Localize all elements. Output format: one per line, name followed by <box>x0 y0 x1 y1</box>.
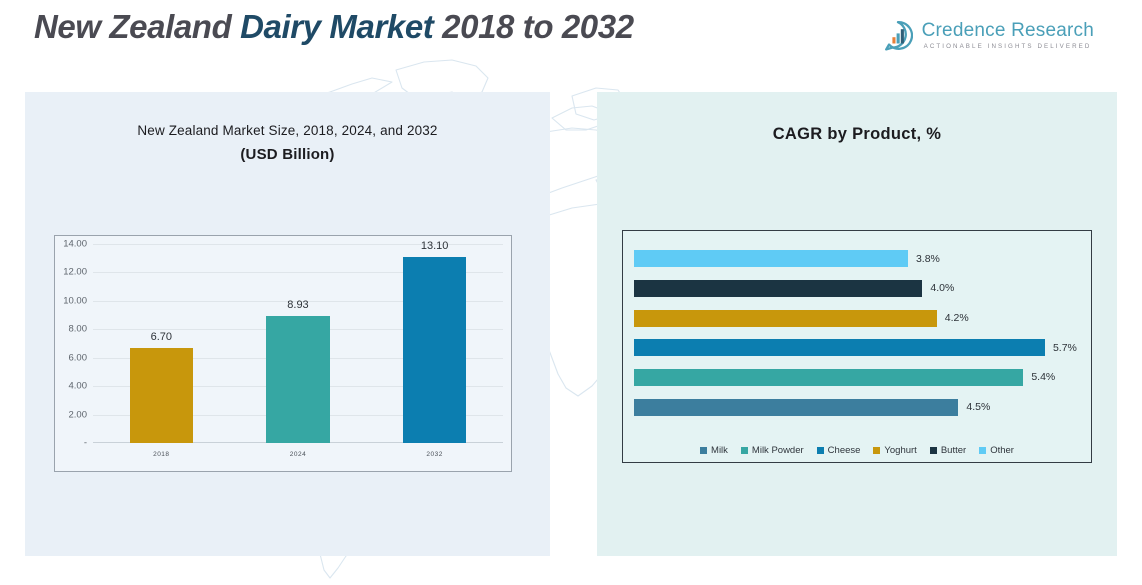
bar-value-label: 4.2% <box>945 312 969 324</box>
market-size-plot-area: -2.004.006.008.0010.0012.0014.006.702018… <box>93 244 503 443</box>
y-axis-tick-label: 14.00 <box>63 239 87 250</box>
bar-value-label: 8.93 <box>287 299 308 311</box>
bar-2018[interactable] <box>130 348 194 443</box>
legend-label: Yoghurt <box>884 445 916 456</box>
bar-value-label: 3.8% <box>916 253 940 265</box>
bar-row: 4.2% <box>634 310 1081 327</box>
bar-value-label: 13.10 <box>421 240 449 252</box>
y-axis-tick-label: 10.00 <box>63 295 87 306</box>
bar-value-label: 4.0% <box>930 282 954 294</box>
title-accent: Dairy Market <box>240 8 433 45</box>
legend-swatch-icon <box>817 447 824 454</box>
bar-2032[interactable] <box>403 257 467 443</box>
x-axis-tick-label: 2024 <box>290 451 306 458</box>
bar-cheese[interactable] <box>634 339 1045 356</box>
legend-item-milk[interactable]: Milk <box>700 445 728 456</box>
x-axis-tick-label: 2018 <box>153 451 169 458</box>
page-title: New Zealand Dairy Market 2018 to 2032 <box>34 8 634 46</box>
legend-item-butter[interactable]: Butter <box>930 445 966 456</box>
bar-column: 6.702018 <box>130 348 194 443</box>
bar-value-label: 4.5% <box>966 401 990 413</box>
legend-label: Cheese <box>828 445 861 456</box>
cagr-bar-chart: 3.8%4.0%4.2%5.7%5.4%4.5% MilkMilk Powder… <box>622 230 1092 463</box>
cagr-plot-area: 3.8%4.0%4.2%5.7%5.4%4.5% <box>634 244 1081 422</box>
bar-row: 3.8% <box>634 250 1081 267</box>
logo-company-name: Credence Research <box>922 21 1094 40</box>
x-axis-tick-label: 2032 <box>426 451 442 458</box>
y-axis-tick-label: 12.00 <box>63 267 87 278</box>
legend-item-other[interactable]: Other <box>979 445 1014 456</box>
bar-2024[interactable] <box>266 316 330 443</box>
legend-label: Butter <box>941 445 966 456</box>
cagr-title: CAGR by Product, % <box>597 125 1117 144</box>
bar-yoghurt[interactable] <box>634 310 937 327</box>
title-part-1: New Zealand <box>34 8 240 45</box>
legend-swatch-icon <box>873 447 880 454</box>
bar-value-label: 5.4% <box>1031 371 1055 383</box>
cagr-panel: CAGR by Product, % 3.8%4.0%4.2%5.7%5.4%4… <box>597 92 1117 556</box>
legend-label: Milk <box>711 445 728 456</box>
legend-swatch-icon <box>930 447 937 454</box>
market-size-panel: New Zealand Market Size, 2018, 2024, and… <box>25 92 550 556</box>
y-axis-tick-label: 8.00 <box>69 324 88 335</box>
legend-item-yoghurt[interactable]: Yoghurt <box>873 445 916 456</box>
legend-swatch-icon <box>979 447 986 454</box>
bar-value-label: 6.70 <box>151 331 172 343</box>
logo-text-block: Credence Research Actionable Insights De… <box>922 21 1094 50</box>
bar-row: 5.4% <box>634 369 1081 386</box>
legend-swatch-icon <box>700 447 707 454</box>
market-size-bar-chart: -2.004.006.008.0010.0012.0014.006.702018… <box>54 235 512 472</box>
bar-value-label: 5.7% <box>1053 342 1077 354</box>
y-axis-tick-label: 4.00 <box>69 381 88 392</box>
bar-other[interactable] <box>634 250 908 267</box>
market-size-title-line2: (USD Billion) <box>25 146 550 163</box>
title-part-2: 2018 to 2032 <box>433 8 633 45</box>
legend-swatch-icon <box>741 447 748 454</box>
logo-bar-chart-icon <box>883 21 913 51</box>
cagr-legend: MilkMilk PowderCheeseYoghurtButterOther <box>623 445 1091 456</box>
bar-butter[interactable] <box>634 280 922 297</box>
bar-milk-powder[interactable] <box>634 369 1023 386</box>
legend-item-cheese[interactable]: Cheese <box>817 445 861 456</box>
logo-tagline: Actionable Insights Delivered <box>924 44 1094 50</box>
legend-label: Milk Powder <box>752 445 804 456</box>
bar-column: 13.102032 <box>403 257 467 443</box>
bar-row: 4.5% <box>634 399 1081 416</box>
bar-column: 8.932024 <box>266 316 330 443</box>
credence-research-logo[interactable]: Credence Research Actionable Insights De… <box>883 16 1094 56</box>
market-size-title-line1: New Zealand Market Size, 2018, 2024, and… <box>25 123 550 138</box>
y-axis-tick-label: 2.00 <box>69 409 88 420</box>
bar-milk[interactable] <box>634 399 958 416</box>
y-axis-tick-label: 6.00 <box>69 352 88 363</box>
page-header: New Zealand Dairy Market 2018 to 2032 Cr… <box>0 0 1142 64</box>
legend-item-milk-powder[interactable]: Milk Powder <box>741 445 804 456</box>
bar-row: 4.0% <box>634 280 1081 297</box>
legend-label: Other <box>990 445 1014 456</box>
y-axis-tick-label: - <box>84 438 87 449</box>
bar-row: 5.7% <box>634 339 1081 356</box>
